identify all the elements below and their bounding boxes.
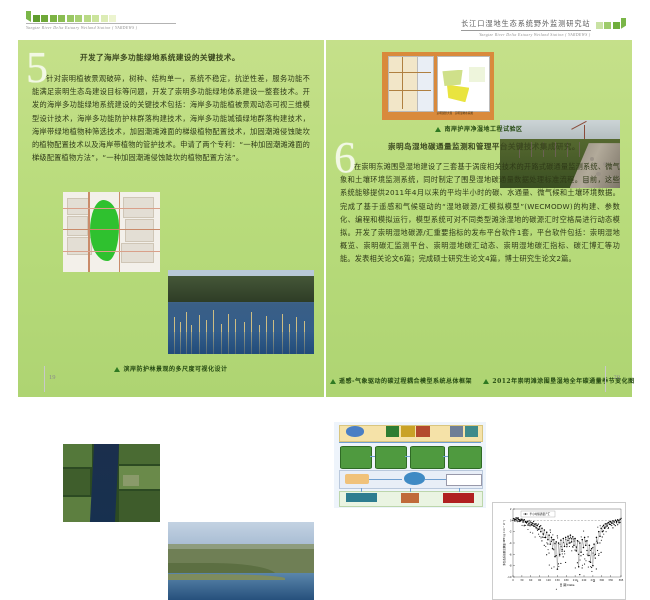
svg-text:-8: -8 <box>509 564 512 568</box>
left-figure-caption: 滨岸防护林景观的多尺度可视化设计 <box>18 364 324 373</box>
header-left: Yangtze River Delta Estuary Wetland Stat… <box>26 13 176 35</box>
svg-text:150: 150 <box>555 578 560 582</box>
svg-text:0: 0 <box>510 518 512 522</box>
header-square <box>58 15 65 22</box>
svg-text:日 期 Date: 日 期 Date <box>559 582 574 587</box>
station-title-cn: 长江口湿地生态系统野外监测研究站 <box>461 19 590 31</box>
figure-carbon-flux-chart: 20-2-4-6-8-10030609012015018021024027030… <box>492 502 626 600</box>
svg-text:净生态系统碳交换量 NEE (g C m⁻² d⁻¹): 净生态系统碳交换量 NEE (g C m⁻² d⁻¹) <box>502 520 506 565</box>
left-lead-text: 开发了海岸多功能绿地系统建设的关键技术。 <box>80 52 310 63</box>
svg-text:-4: -4 <box>509 541 512 545</box>
svg-text:180: 180 <box>564 578 569 582</box>
header-square <box>92 15 99 22</box>
svg-text:2: 2 <box>510 507 512 511</box>
svg-text:365: 365 <box>619 578 624 582</box>
header-left-subtitle: Yangtze River Delta Estuary Wetland Stat… <box>26 26 176 30</box>
magazine-spread: Yangtze River Delta Estuary Wetland Stat… <box>0 0 650 437</box>
figure-site-map-card: 崇明围垦大坝 崇明湿地水系图 <box>382 52 494 120</box>
figure-shoreline-forest-render <box>168 522 314 600</box>
right-page-panel: 崇明围垦大坝 崇明湿地水系图 南岸护岸净湿地工程试验区 6 崇明岛湿地碳通量监测… <box>326 40 632 397</box>
figure-satellite-image <box>63 444 160 522</box>
svg-text:210: 210 <box>573 578 578 582</box>
header-square <box>101 15 108 22</box>
svg-text:0: 0 <box>512 578 514 582</box>
page-number-left: 19 <box>49 374 56 381</box>
header-right: 长江口湿地生态系统野外监测研究站 Yangtze River Delta Est… <box>461 13 626 35</box>
svg-text:330: 330 <box>608 578 613 582</box>
header-rule <box>26 23 176 24</box>
header-square <box>109 15 116 22</box>
svg-text:-10: -10 <box>507 575 512 579</box>
header-square <box>67 15 74 22</box>
svg-text:300: 300 <box>599 578 604 582</box>
svg-text:240: 240 <box>582 578 587 582</box>
svg-text:半小时碳通量产汇: 半小时碳通量产汇 <box>530 512 551 516</box>
right-top-figure-caption: 南岸护岸净湿地工程试验区 <box>326 124 632 133</box>
carbon-flux-plot: 20-2-4-6-8-10030609012015018021024027030… <box>493 503 625 599</box>
flag-icon <box>26 11 31 22</box>
svg-text:270: 270 <box>590 578 595 582</box>
header-square <box>613 22 620 29</box>
header-right-square-row <box>596 20 627 29</box>
station-title-en: Yangtze River Delta Estuary Wetland Stat… <box>461 33 590 37</box>
svg-text:-2: -2 <box>509 530 512 534</box>
header-square <box>33 15 40 22</box>
header-left-square-row <box>26 13 176 22</box>
flag-icon <box>621 18 626 29</box>
left-body-text: 针对崇明植被景观破碎，树种、结构单一，系统不稳定，抗逆性差，服务功能不能满足崇明… <box>32 72 310 164</box>
figure-model-framework-diagram <box>334 422 486 508</box>
header-square <box>50 15 57 22</box>
right-body-text: 在崇明东滩围垦湿地建设了三套基于涡度相关技术的开路式碳通量监测系统、微气象和土壤… <box>340 160 620 266</box>
figure-plan-map <box>63 192 160 272</box>
header-square <box>596 22 603 29</box>
svg-text:60: 60 <box>529 578 533 582</box>
figure-reed-marsh-render <box>168 270 314 354</box>
page-number-right: 20 <box>614 374 621 381</box>
svg-text:120: 120 <box>546 578 551 582</box>
left-page-panel: 5 开发了海岸多功能绿地系统建设的关键技术。 针对崇明植被景观破碎，树种、结构单… <box>18 40 324 397</box>
right-lead-text: 崇明岛湿地碳通量监测和管理平台关键技术集成研究。 <box>388 141 620 152</box>
svg-text:-6: -6 <box>509 552 512 556</box>
header-square <box>604 22 611 29</box>
footer-rule-left <box>44 366 45 392</box>
header-square <box>84 15 91 22</box>
svg-text:30: 30 <box>520 578 524 582</box>
svg-text:90: 90 <box>538 578 542 582</box>
header-square <box>75 15 82 22</box>
header-square <box>41 15 48 22</box>
footer-rule-right <box>605 366 606 392</box>
